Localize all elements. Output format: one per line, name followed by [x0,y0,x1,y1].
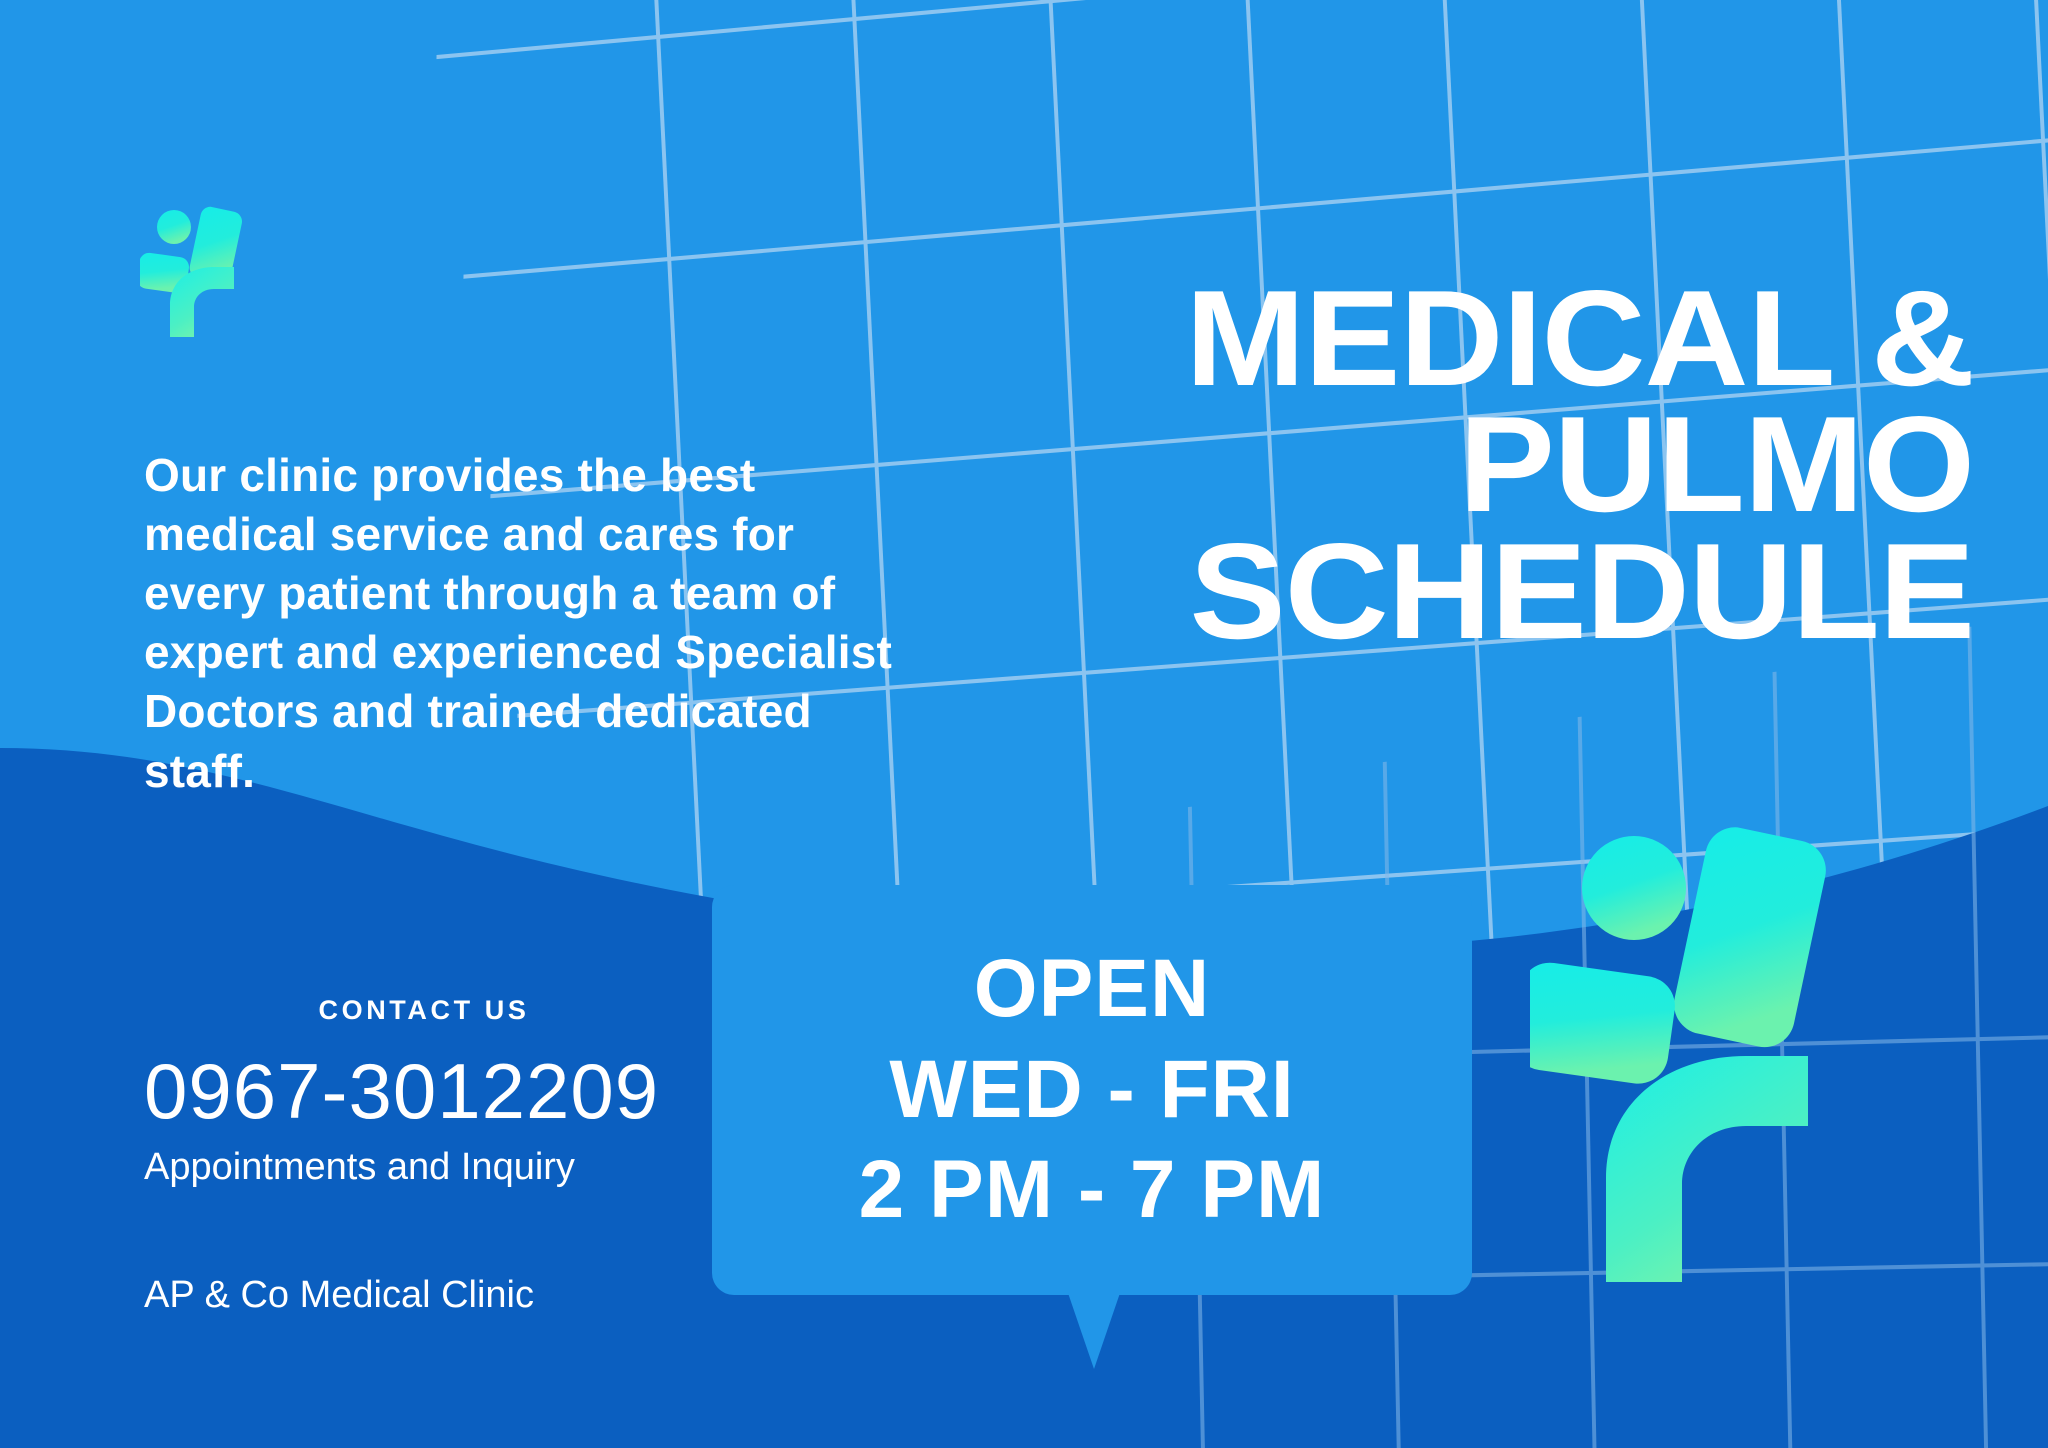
title-line-3: SCHEDULE [776,528,1974,654]
page-title: MEDICAL & PULMO SCHEDULE [844,275,1974,654]
title-line-1: MEDICAL & [776,275,1974,401]
running-person-logo-icon [1530,820,1860,1290]
poster-canvas: MEDICAL & PULMO SCHEDULE Our clinic prov… [0,0,2048,1448]
hours-line-times: 2 PM - 7 PM [859,1142,1326,1239]
hours-line-open: OPEN [974,941,1210,1038]
speech-bubble-tail [1068,1293,1120,1369]
title-line-2: PULMO [776,401,1974,527]
clinic-description: Our clinic provides the best medical ser… [144,446,904,801]
hours-line-days: WED - FRI [889,1042,1294,1139]
hours-speech-bubble: OPEN WED - FRI 2 PM - 7 PM [712,885,1472,1295]
contact-us-label: CONTACT US [144,995,704,1026]
